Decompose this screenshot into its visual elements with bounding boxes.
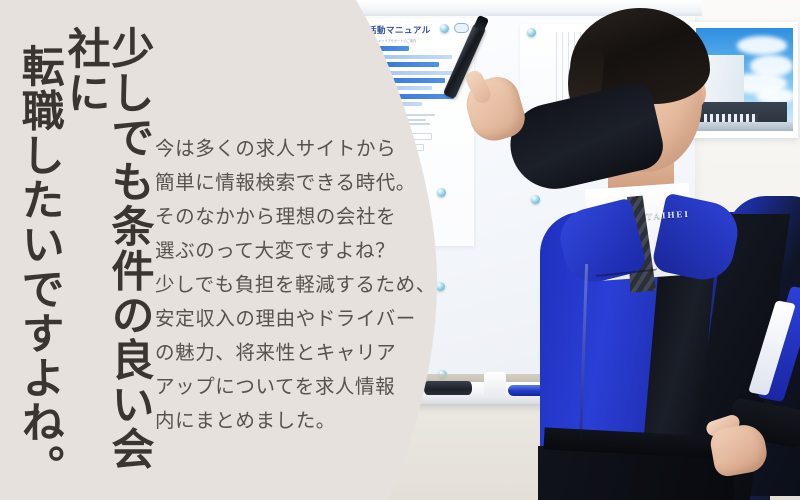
headline-column-2: 転職したいですよね。 <box>16 0 60 500</box>
headline-column-1: 少しでも条件の良い会社に <box>62 0 150 500</box>
body-line: 簡単に情報検索できる時代。 <box>155 166 415 200</box>
body-line: アップについてを求人情報 <box>155 370 415 404</box>
person-photo: TAIHEI <box>530 0 800 500</box>
body-line: 少しでも負担を軽減するため、 <box>155 268 415 302</box>
body-line: 選ぶのって大変ですよね？ <box>155 234 415 268</box>
tray-clip <box>484 372 506 396</box>
body-line: 今は多くの求人サイトから <box>155 132 415 166</box>
headline: 少しでも条件の良い会社に 転職したいですよね。 <box>20 0 150 500</box>
banner-root: ち活動マニュアル リクルート・キャリアサポートのご案内 <box>0 0 800 500</box>
body-line: 内にまとめました。 <box>155 404 415 438</box>
body-line: の魅力、将来性とキャリア <box>155 336 415 370</box>
body-line: 安定収入の理由やドライバー <box>155 302 415 336</box>
body-paragraph: 今は多くの求人サイトから 簡単に情報検索できる時代。 そのなかから理想の会社を … <box>155 132 415 438</box>
body-line: そのなかから理想の会社を <box>155 200 415 234</box>
